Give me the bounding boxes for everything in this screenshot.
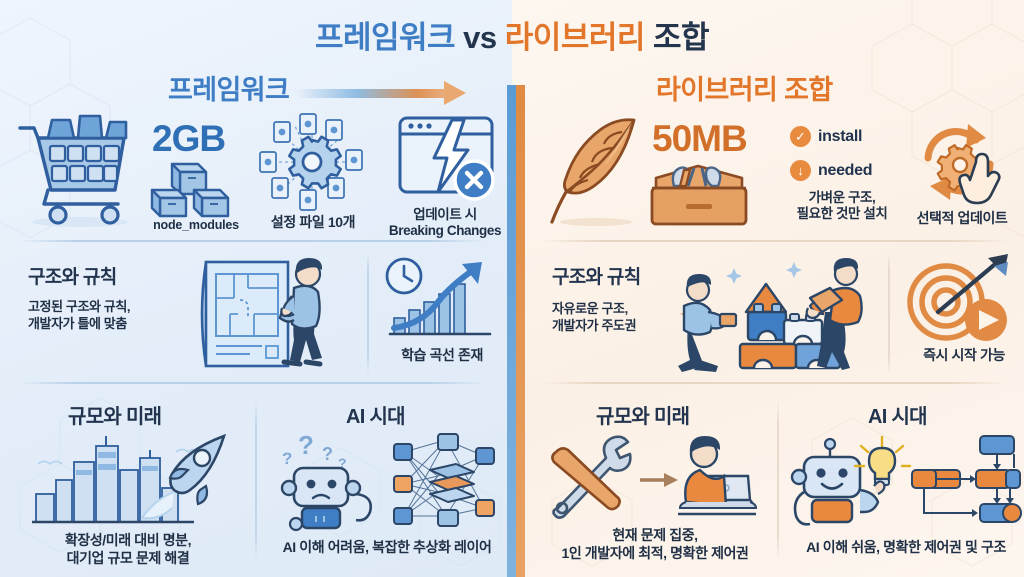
title-part-library: 라이브러리: [505, 20, 645, 55]
right-size-value: 50MB: [652, 118, 747, 160]
page-title: 프레임워크 vs 라이브러리 조합: [0, 12, 1024, 57]
breaking-changes-label: 업데이트 시 Breaking Changes: [378, 207, 512, 239]
right-mid-vrule: [888, 252, 890, 374]
config-files-label: 설정 파일 10개: [250, 215, 376, 230]
city-rocket-icon: [28, 430, 228, 526]
confused-robot-neural-network-icon: ? ? ? ?: [280, 432, 500, 528]
check-circle-icon: ✓: [790, 126, 811, 147]
transition-arrow-icon: [296, 80, 476, 106]
arrow-shaft: [296, 89, 448, 98]
blueprint-person-icon: [196, 252, 346, 374]
title-part-combo: 조합: [653, 20, 709, 55]
center-divider-blue: [507, 85, 516, 577]
left-scale-heading: 규모와 미래: [68, 400, 161, 429]
subtitle-left: 프레임워크: [168, 68, 289, 107]
learning-curve-label: 학습 곡선 존재: [380, 348, 504, 363]
refresh-gear-cursor-icon: [912, 118, 1012, 208]
left-size-value: 2GB: [152, 118, 225, 160]
left-structure-heading: 구조와 규칙: [28, 262, 116, 289]
tools-to-developer-icon: [544, 432, 764, 528]
instant-start-label: 즉시 시작 가능: [902, 348, 1024, 363]
svg-text:?: ?: [282, 449, 292, 468]
badge-needed: ↓ needed: [790, 160, 872, 181]
left-mid-vrule: [367, 252, 369, 374]
right-scale-heading: 규모와 미래: [596, 400, 689, 429]
infographic-canvas: 프레임워크 vs 라이브러리 조합 프레임워크 라이브러리 조합: [0, 0, 1024, 577]
download-circle-icon: ↓: [790, 160, 811, 181]
left-ai-caption: AI 이해 어려움, 복잡한 추상화 레이어: [262, 540, 512, 555]
svg-text:?: ?: [322, 444, 333, 464]
feather-icon: [542, 112, 648, 228]
building-blocks-people-icon: [662, 254, 882, 376]
left-rule-1: [18, 240, 486, 242]
right-structure-heading: 구조와 규칙: [552, 262, 640, 289]
title-part-vs: vs: [463, 20, 496, 55]
left-scale-caption: 확장성/미래 대비 명분, 대기업 규모 문제 해결: [18, 531, 238, 567]
subtitle-right: 라이브러리 조합: [656, 68, 833, 107]
badge-install-label: install: [818, 128, 862, 146]
right-scale-caption: 현재 문제 집중, 1인 개발자에 최적, 명확한 제어권: [530, 526, 780, 562]
left-rule-2: [18, 382, 486, 384]
center-divider-orange: [516, 85, 525, 577]
happy-robot-flowchart-icon: [790, 428, 1020, 528]
broken-window-error-icon: [394, 112, 502, 208]
left-bottom-vrule: [255, 400, 257, 560]
right-ai-caption: AI 이해 쉬움, 명확한 제어권 및 구조: [788, 540, 1024, 555]
selective-update-label: 선택적 업데이트: [902, 211, 1022, 226]
gear-with-config-files-icon: [256, 112, 368, 212]
shopping-cart-icon: [14, 112, 144, 230]
title-part-framework: 프레임워크: [315, 20, 455, 55]
left-ai-heading: AI 시대: [346, 400, 405, 429]
clock-growth-chart-icon: [382, 256, 500, 348]
node-modules-label: node_modules: [132, 218, 260, 232]
svg-text:?: ?: [298, 430, 314, 460]
left-structure-body: 고정된 구조와 규칙, 개발자가 틀에 맞춤: [28, 298, 198, 332]
right-rule-1: [540, 240, 1008, 242]
badge-needed-label: needed: [818, 162, 872, 180]
target-arrow-play-icon: [904, 256, 1016, 348]
right-ai-heading: AI 시대: [868, 400, 927, 429]
badge-install: ✓ install: [790, 126, 862, 147]
lightweight-caption: 가벼운 구조, 필요한 것만 설치: [768, 190, 916, 222]
arrow-head: [444, 81, 466, 105]
right-rule-2: [540, 382, 1008, 384]
stacked-boxes-icon: [146, 160, 246, 220]
toolbox-icon: [644, 162, 754, 228]
